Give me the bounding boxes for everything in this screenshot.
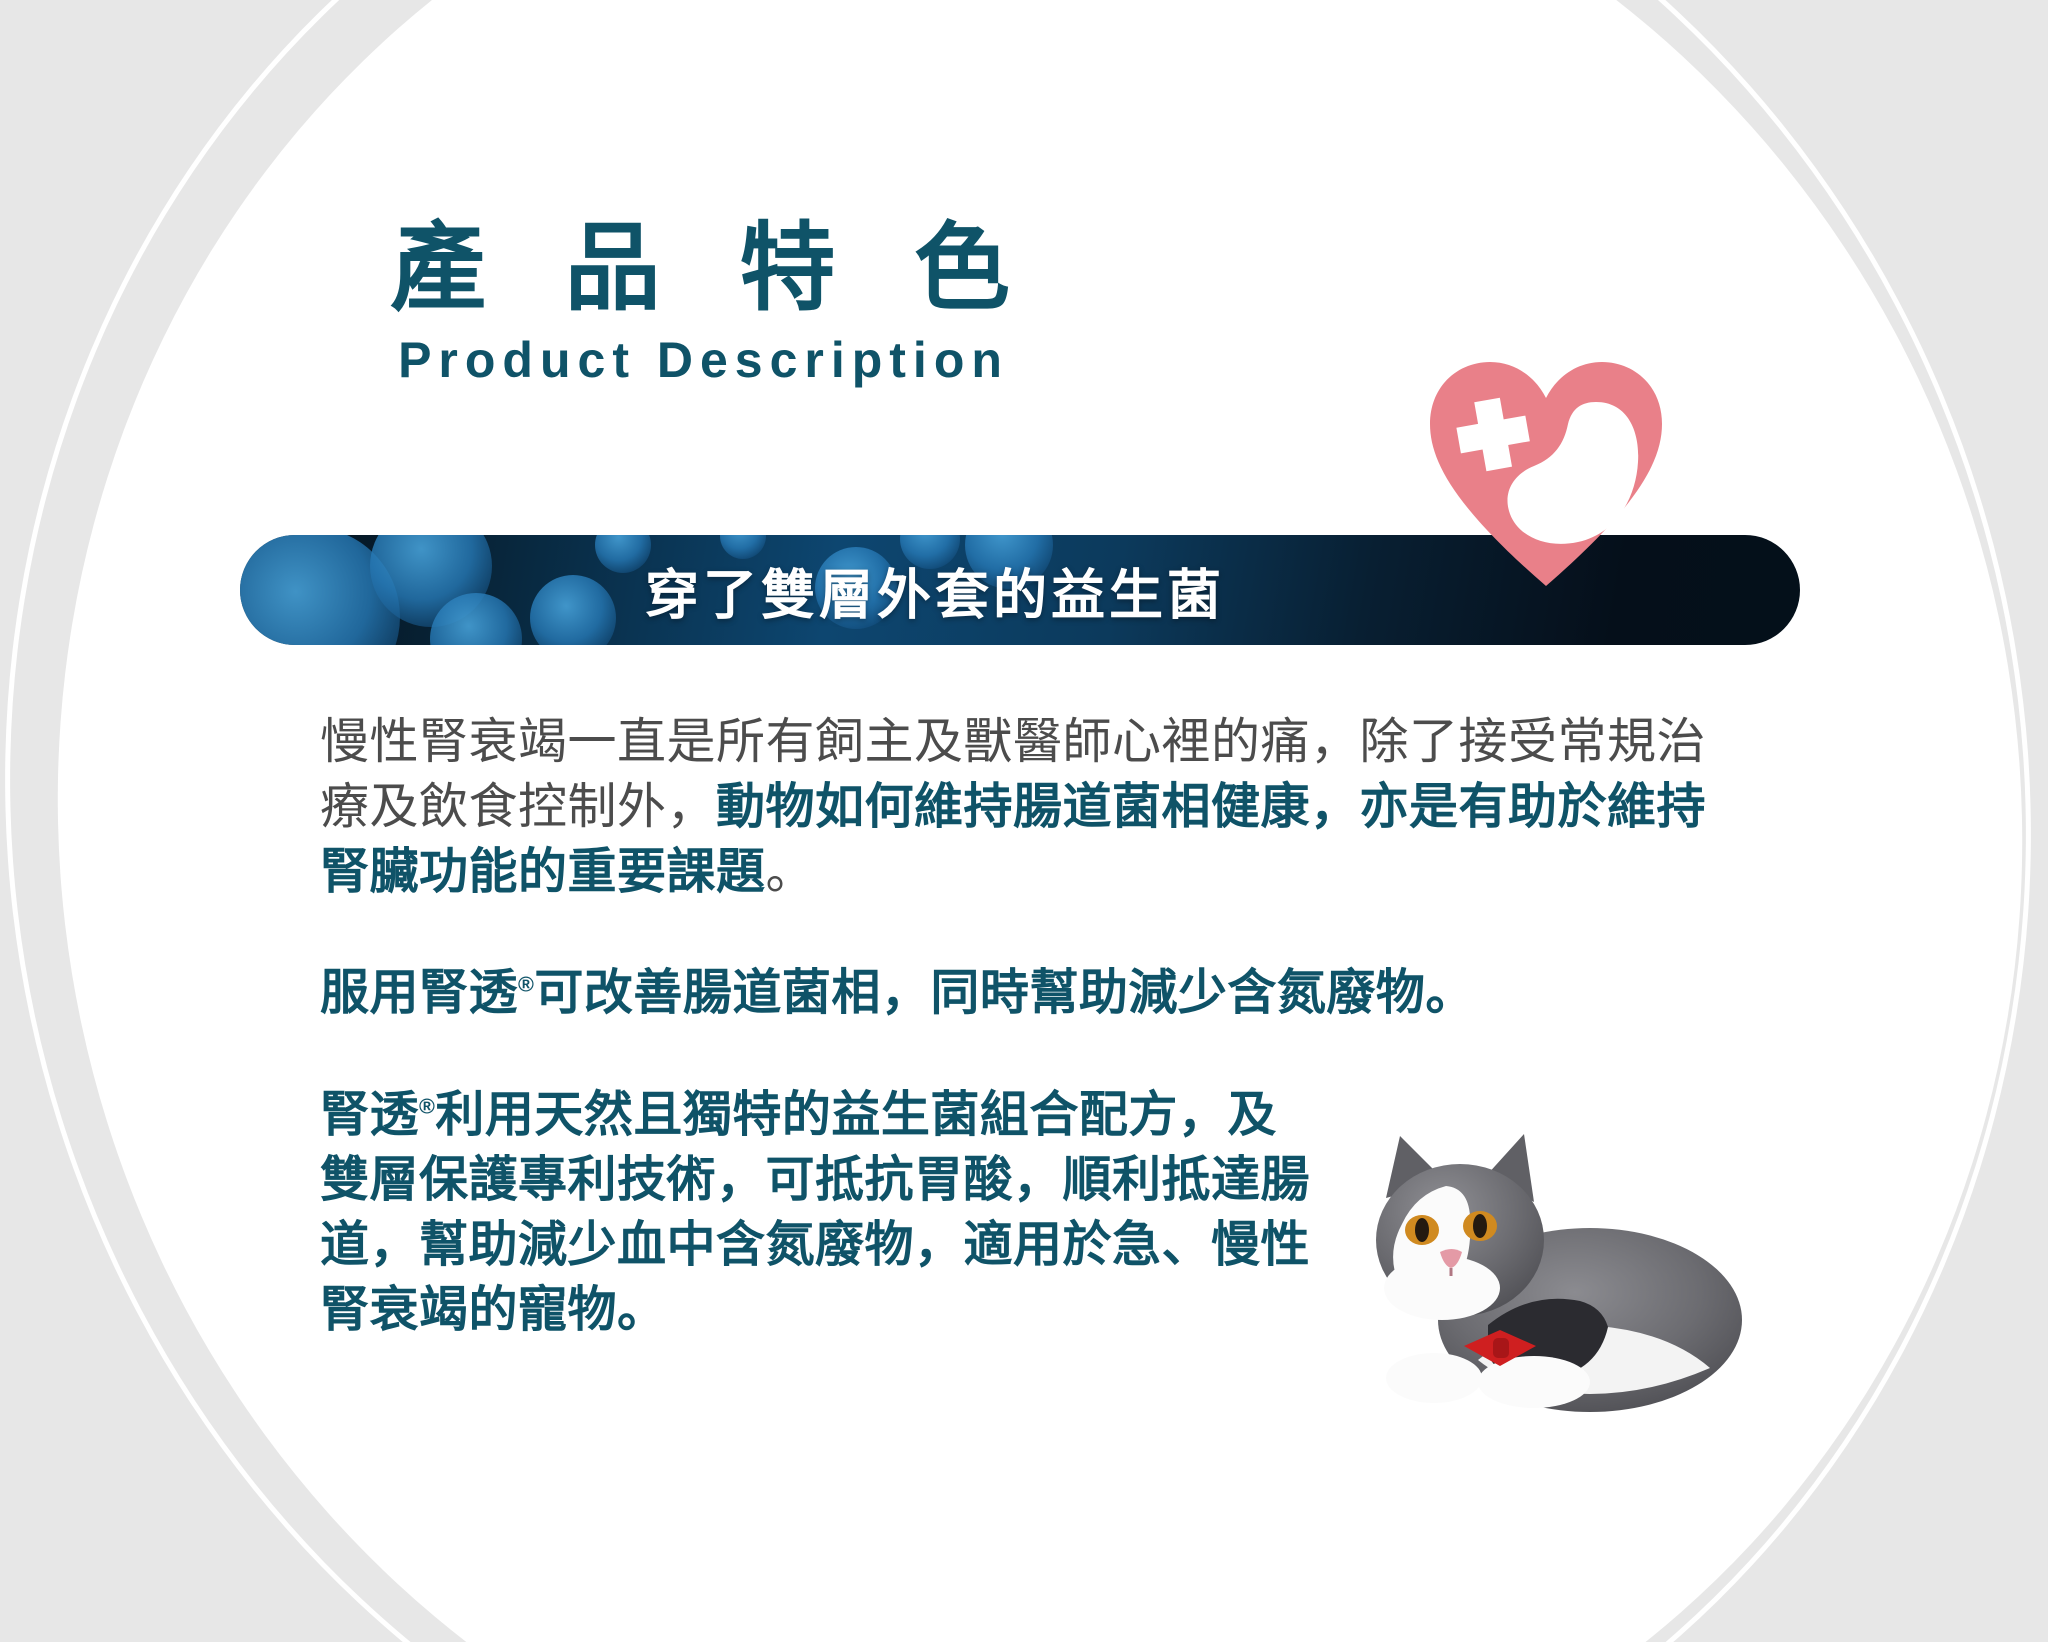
page-header: 產 品 特 色 Product Description — [0, 215, 1400, 389]
cat-pupil-right — [1473, 1214, 1487, 1238]
cat-paw-left — [1386, 1353, 1482, 1403]
product-description-page: 產 品 特 色 Product Description 穿了雙層外套的益生菌 慢… — [0, 0, 2048, 1642]
cat-bowtie-knot — [1493, 1338, 1509, 1358]
registered-trademark-mark: ® — [419, 1093, 435, 1118]
page-title-english: Product Description — [7, 331, 1400, 389]
cat-pupil-left — [1415, 1218, 1429, 1242]
heart-kidney-plus-logo — [1428, 358, 1664, 588]
cat-paw-right — [1478, 1356, 1590, 1408]
paragraph-intro: 慢性腎衰竭一直是所有飼主及獸醫師心裡的痛，除了接受常規治療及飲食控制外，動物如何… — [320, 710, 1740, 905]
paragraph-technology-suffix: 利用天然且獨特的益生菌組合配方，及雙層保護專利技術，可抵抗胃酸，順利抵達腸道，幫… — [320, 1088, 1310, 1337]
paragraph-benefit-prefix: 服用腎透 — [320, 966, 518, 1020]
page-title-chinese: 產 品 特 色 — [26, 215, 1400, 323]
cat-photo — [1338, 1110, 1748, 1415]
paragraph-technology: 腎透®利用天然且獨特的益生菌組合配方，及雙層保護專利技術，可抵抗胃酸，順利抵達腸… — [320, 1083, 1320, 1344]
registered-trademark-mark: ® — [518, 972, 534, 997]
paragraph-benefit: 服用腎透®可改善腸道菌相，同時幫助減少含氮廢物。 — [320, 961, 1740, 1026]
cat-muzzle-white — [1384, 1256, 1500, 1320]
paragraph-intro-plain-tail: 。 — [766, 845, 816, 899]
sparkle-rays-decoration — [1630, 240, 1920, 470]
paragraph-benefit-suffix: 可改善腸道菌相，同時幫助減少含氮廢物。 — [534, 966, 1475, 1020]
paragraph-technology-prefix: 腎透 — [320, 1088, 419, 1142]
